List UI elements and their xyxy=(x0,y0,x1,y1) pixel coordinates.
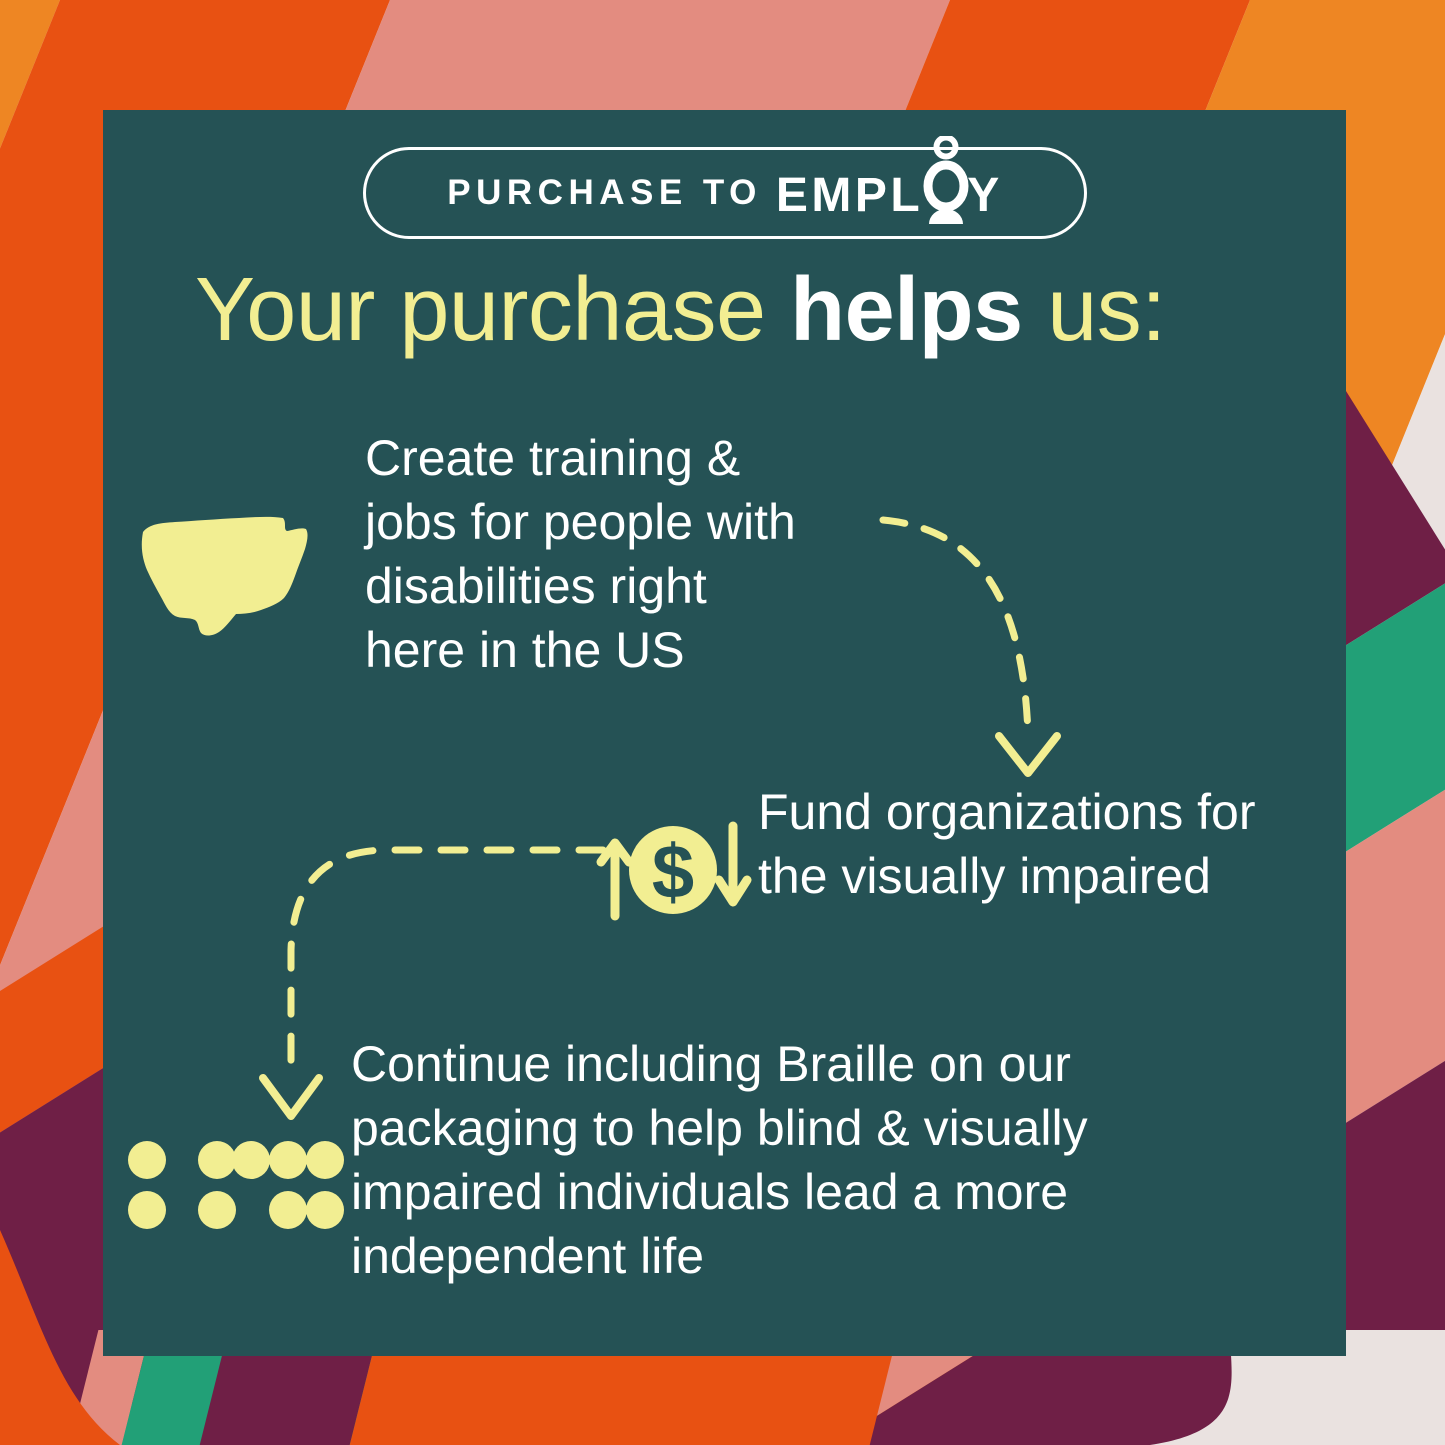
us-map-icon xyxy=(131,500,341,660)
row-2-text: Fund organizations for the visually impa… xyxy=(758,780,1328,908)
row-1-line-1: Create training & xyxy=(365,426,885,490)
content-card: PURCHASE TO EMPL Y Your purchase h xyxy=(103,110,1346,1356)
braille-dot xyxy=(232,1141,270,1179)
row-3-line-3: impaired individuals lead a more xyxy=(351,1160,1171,1224)
logo-main-text: EMPL Y xyxy=(776,163,1003,223)
braille-dot xyxy=(128,1191,166,1229)
braille-dot xyxy=(269,1141,307,1179)
row-3-line-4: independent life xyxy=(351,1224,1171,1288)
infographic-poster: PURCHASE TO EMPL Y Your purchase h xyxy=(0,0,1445,1445)
braille-dots-icon xyxy=(125,1130,355,1240)
braille-dot xyxy=(269,1191,307,1229)
headline-part-1: Your purchase xyxy=(195,260,766,360)
braille-dot xyxy=(306,1191,344,1229)
page-title: Your purchase helps us: xyxy=(195,265,1166,355)
row-3-line-1: Continue including Braille on our xyxy=(351,1032,1171,1096)
logo-empl-text: EMPL xyxy=(776,168,923,223)
braille-dot xyxy=(306,1141,344,1179)
row-2-line-1: Fund organizations for xyxy=(758,780,1328,844)
headline-part-2: helps xyxy=(790,260,1023,360)
braille-dot xyxy=(128,1141,166,1179)
curved-dashed-arrow-down-right-icon xyxy=(873,490,1103,790)
logo-y-text: Y xyxy=(967,168,1003,223)
dollar-coin-icon: $ xyxy=(593,810,753,930)
row-3-line-2: packaging to help blind & visually xyxy=(351,1096,1171,1160)
person-figure-icon xyxy=(923,163,967,211)
purchase-to-employ-logo: PURCHASE TO EMPL Y xyxy=(363,147,1087,239)
row-1-line-4: here in the US xyxy=(365,618,885,682)
logo-text-group: PURCHASE TO EMPL Y xyxy=(363,147,1087,239)
braille-dot xyxy=(198,1191,236,1229)
row-3-text: Continue including Braille on our packag… xyxy=(351,1032,1171,1288)
braille-dot xyxy=(198,1141,236,1179)
svg-text:$: $ xyxy=(652,830,694,915)
row-1-line-2: jobs for people with xyxy=(365,490,885,554)
row-2-line-2: the visually impaired xyxy=(758,844,1328,908)
headline-part-3: us: xyxy=(1047,260,1166,360)
row-1-text: Create training & jobs for people with d… xyxy=(365,426,885,682)
row-1-line-3: disabilities right xyxy=(365,554,885,618)
logo-prefix-text: PURCHASE TO xyxy=(447,173,762,213)
